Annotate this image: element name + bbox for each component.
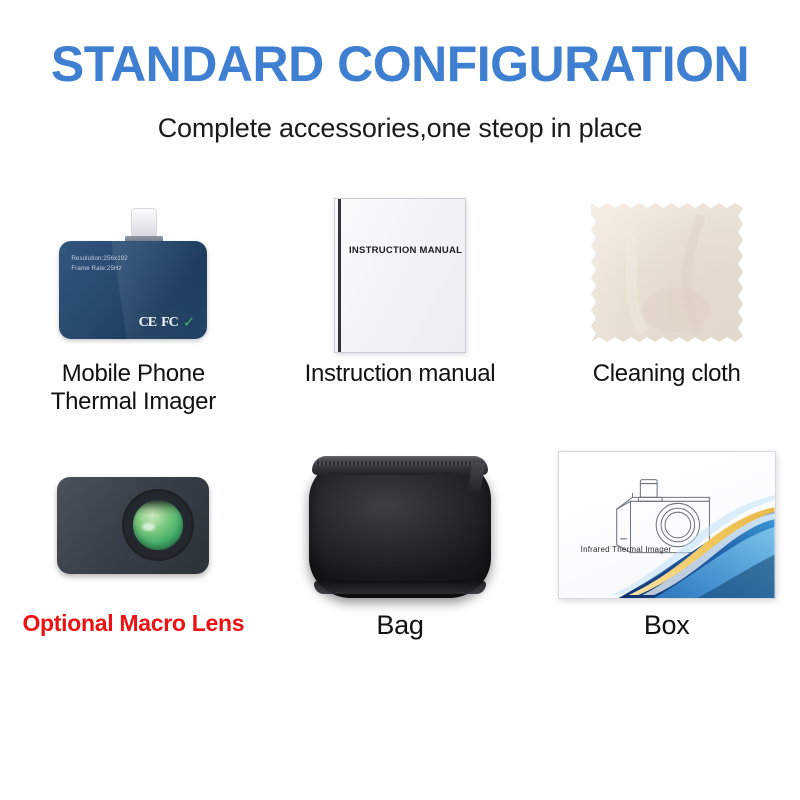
bag-illustration xyxy=(267,440,534,610)
box-graphic: Infrared Thermal Imager xyxy=(558,451,776,599)
product-configuration-page: STANDARD CONFIGURATION Complete accessor… xyxy=(0,0,800,800)
device-spec-text: Resolution:256x192 Frame Rate:25Hz xyxy=(71,254,128,274)
check-icon: ✓ xyxy=(183,315,196,330)
fc-mark-icon: FC xyxy=(161,316,178,330)
accessory-caption: Instruction manual xyxy=(305,360,496,388)
caption-line-1: Mobile Phone xyxy=(51,360,216,388)
usb-c-connector-icon xyxy=(131,208,157,238)
certification-marks: CE FC ✓ xyxy=(139,315,196,330)
manual-spine xyxy=(338,199,341,352)
thermal-imager-illustration: Resolution:256x192 Frame Rate:25Hz CE FC… xyxy=(0,190,267,360)
cloth-graphic xyxy=(581,195,753,355)
accessory-item-box: Infrared Thermal Imager Box xyxy=(533,440,800,690)
accessory-item-bag: Bag xyxy=(267,440,534,690)
accessory-item-instruction-manual: INSTRUCTION MANUAL Instruction manual xyxy=(267,190,534,440)
device-graphic: Resolution:256x192 Frame Rate:25Hz CE FC… xyxy=(53,208,213,343)
manual-cover-title: INSTRUCTION MANUAL xyxy=(349,245,462,256)
page-title: STANDARD CONFIGURATION xyxy=(0,38,800,91)
manual-booklet: INSTRUCTION MANUAL xyxy=(334,198,466,353)
accessory-caption: Bag xyxy=(376,610,423,641)
box-artwork xyxy=(559,452,775,598)
box-product-label: Infrared Thermal Imager xyxy=(581,545,672,554)
accessory-item-thermal-imager: Resolution:256x192 Frame Rate:25Hz CE FC… xyxy=(0,190,267,440)
bag-shell xyxy=(309,459,491,598)
accessory-grid: Resolution:256x192 Frame Rate:25Hz CE FC… xyxy=(0,190,800,750)
accessory-caption: Box xyxy=(644,610,690,641)
lens-body xyxy=(57,477,209,574)
cleaning-cloth-illustration xyxy=(533,190,800,360)
accessory-caption: Optional Macro Lens xyxy=(22,610,244,636)
bag-graphic xyxy=(305,450,495,600)
device-spec-framerate: Frame Rate:25Hz xyxy=(71,264,128,274)
box-illustration: Infrared Thermal Imager xyxy=(533,440,800,610)
ce-mark-icon: CE xyxy=(139,316,156,330)
lens-ring xyxy=(122,489,194,561)
accessory-item-macro-lens: Optional Macro Lens xyxy=(0,440,267,690)
device-spec-resolution: Resolution:256x192 xyxy=(71,254,128,264)
accessory-item-cleaning-cloth: Cleaning cloth xyxy=(533,190,800,440)
macro-lens-illustration xyxy=(0,440,267,610)
page-subtitle: Complete accessories,one steop in place xyxy=(0,113,800,144)
accessory-caption: Cleaning cloth xyxy=(593,360,741,388)
bag-zipper-teeth xyxy=(315,461,485,466)
device-body: Resolution:256x192 Frame Rate:25Hz CE FC… xyxy=(59,241,207,339)
bag-bottom-seam xyxy=(314,581,486,594)
page-header: STANDARD CONFIGURATION Complete accessor… xyxy=(0,0,800,144)
accessory-caption: Mobile Phone Thermal Imager xyxy=(51,360,216,415)
caption-line-2: Thermal Imager xyxy=(51,388,216,416)
lens-glass xyxy=(133,500,183,550)
instruction-manual-illustration: INSTRUCTION MANUAL xyxy=(267,190,534,360)
